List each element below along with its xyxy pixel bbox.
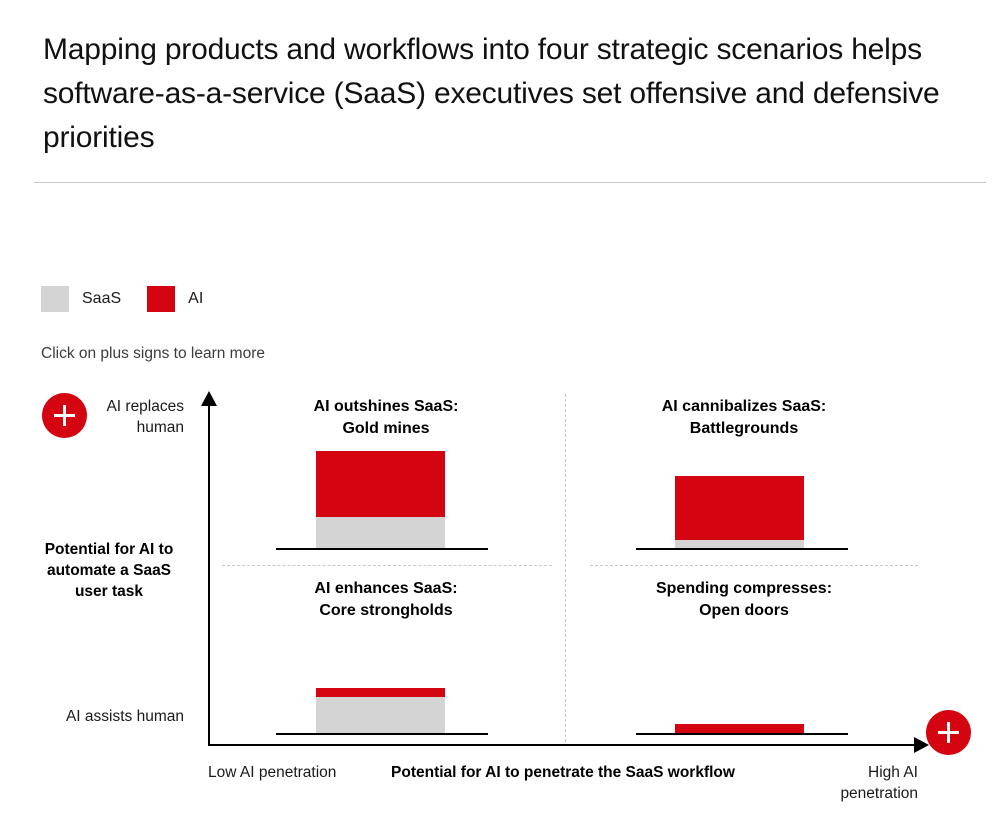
bar-segment-saas [316, 517, 445, 548]
quadrant-title-top-left-line2: Gold mines [342, 420, 429, 437]
x-axis-right-label: High AI penetration [790, 762, 918, 804]
bar-baseline-bottom-right [636, 733, 848, 735]
quadrant-title-bottom-right-line2: Open doors [699, 602, 789, 619]
bar-baseline-top-left [276, 548, 488, 550]
quadrant-title-bottom-right: Spending compresses: Open doors [603, 578, 885, 622]
quadrant-chart: AI replaces human AI assists human Poten… [0, 0, 1000, 832]
quadrant-title-top-right-line1: AI cannibalizes SaaS: [662, 398, 827, 415]
x-axis-line [208, 744, 918, 746]
bar-bottom-right [675, 724, 804, 733]
quadrant-title-top-right-line2: Battlegrounds [690, 420, 798, 437]
quadrant-title-bottom-left-line2: Core strongholds [319, 602, 452, 619]
x-axis-left-label: Low AI penetration [208, 762, 348, 783]
bar-segment-ai [675, 476, 804, 540]
bar-segment-saas [675, 540, 804, 548]
bar-top-right [675, 476, 804, 548]
x-axis-title: Potential for AI to penetrate the SaaS w… [383, 762, 743, 783]
quadrant-title-bottom-right-line1: Spending compresses: [656, 580, 832, 597]
bar-segment-ai [675, 724, 804, 733]
plus-icon-top-left[interactable] [42, 393, 87, 438]
quadrant-title-top-left: AI outshines SaaS: Gold mines [245, 396, 527, 440]
quadrant-title-top-right: AI cannibalizes SaaS: Battlegrounds [603, 396, 885, 440]
bar-top-left [316, 451, 445, 548]
y-axis-title: Potential for AI to automate a SaaS user… [34, 539, 184, 602]
bar-segment-saas [316, 697, 445, 733]
quadrant-divider-vertical [565, 394, 566, 742]
bar-segment-ai [316, 451, 445, 517]
quadrant-divider-horizontal-right [590, 565, 918, 566]
y-axis-line [208, 404, 210, 745]
y-axis-bottom-label: AI assists human [60, 706, 184, 727]
quadrant-divider-horizontal-left [222, 565, 552, 566]
plus-icon-bottom-right[interactable] [926, 710, 971, 755]
bar-segment-ai [316, 688, 445, 697]
quadrant-title-bottom-left-line1: AI enhances SaaS: [314, 580, 457, 597]
quadrant-title-bottom-left: AI enhances SaaS: Core strongholds [245, 578, 527, 622]
quadrant-title-top-left-line1: AI outshines SaaS: [314, 398, 459, 415]
bar-baseline-top-right [636, 548, 848, 550]
bar-baseline-bottom-left [276, 733, 488, 735]
bar-bottom-left [316, 688, 445, 733]
